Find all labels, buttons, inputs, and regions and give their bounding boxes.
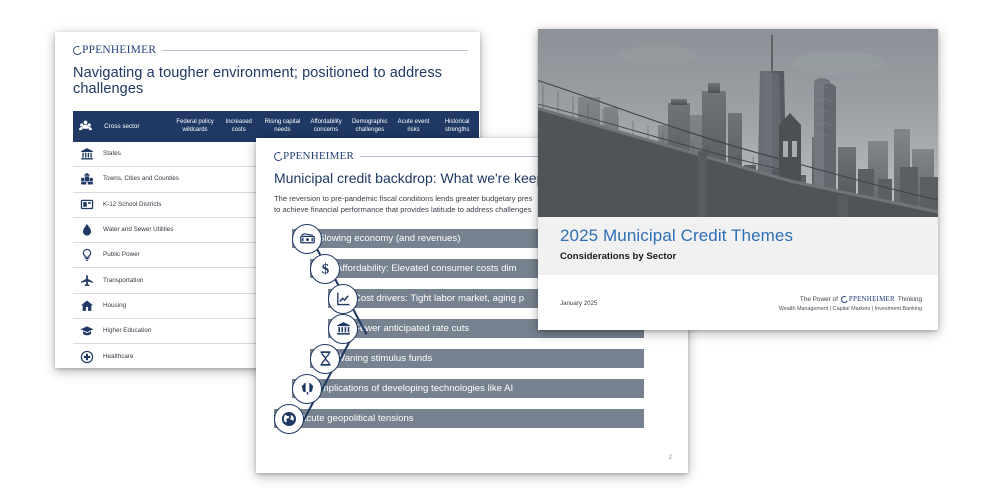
cover-subtitle: Considerations by Sector (560, 251, 938, 262)
brand-prefix: The Power of (800, 296, 838, 303)
town-buildings-icon (73, 172, 101, 186)
oppenheimer-wordmark: PPENHEIMER (283, 150, 354, 162)
brain-icon (292, 374, 322, 404)
page-number: 2 (669, 455, 672, 461)
title-band: 2025 Municipal Credit Themes Considerati… (538, 217, 938, 275)
row-label: Public Power (101, 251, 185, 259)
row-label: Housing (101, 302, 185, 310)
list-item-label: Acute geopolitical tensions (274, 409, 644, 428)
list-item[interactable]: Waning stimulus funds (310, 349, 644, 368)
list-item-label: Implications of developing technologies … (292, 379, 644, 398)
row-label: Healthcare (101, 353, 185, 361)
hourglass-icon (310, 344, 340, 374)
oppenheimer-wordmark: PPENHEIMER (82, 44, 156, 56)
slide-title-cover[interactable]: 2025 Municipal Credit Themes Considerati… (538, 29, 938, 330)
column-header-increased-costs: Increased costs (217, 111, 261, 142)
house-icon (73, 299, 101, 313)
medical-cross-icon (73, 350, 101, 364)
oppenheimer-o-icon (840, 295, 849, 304)
line-chart-icon (328, 284, 358, 314)
row-label: Towns, Cities and Counties (101, 175, 185, 183)
graduation-cap-icon (73, 324, 101, 338)
brand-lockup: The Power of PPENHEIMER Thinking Wealth … (779, 295, 922, 312)
cover-footer: January 2025 The Power of PPENHEIMER Thi… (538, 275, 938, 330)
cash-bills-icon (292, 224, 322, 254)
cover-date: January 2025 (560, 300, 598, 307)
logo-rule (162, 50, 468, 51)
globe-icon (274, 404, 304, 434)
column-header-federal-policy: Federal policy wildcards (173, 111, 217, 142)
people-group-icon (73, 111, 98, 142)
computer-monitor-icon (73, 198, 101, 212)
row-label: Higher Education (101, 327, 185, 335)
row-label: Water and Sewer Utilities (101, 226, 185, 234)
oppenheimer-logo: PPENHEIMER (73, 44, 468, 56)
row-label: K-12 School Districts (101, 201, 185, 209)
list-item[interactable]: Implications of developing technologies … (292, 379, 644, 398)
airplane-icon (73, 274, 101, 288)
bank-columns-icon (73, 147, 101, 161)
row-label: Transportation (101, 277, 185, 285)
slide-title: Navigating a tougher environment; positi… (73, 65, 468, 97)
brand-suffix: Thinking (898, 296, 922, 303)
dollar-sign-icon: $ (310, 254, 340, 284)
nyc-skyline-brooklyn-bridge-photo (538, 29, 938, 217)
water-drop-icon (73, 223, 101, 237)
lightbulb-icon (73, 248, 101, 262)
bank-columns-icon (328, 314, 358, 344)
list-item[interactable]: Acute geopolitical tensions (274, 409, 644, 428)
oppenheimer-wordmark: PPENHEIMER (849, 295, 895, 303)
cover-title: 2025 Municipal Credit Themes (560, 226, 938, 246)
row-label: States (101, 150, 185, 158)
slide-stack: PPENHEIMER Navigating a tougher environm… (0, 0, 994, 500)
list-item-label: Waning stimulus funds (310, 349, 644, 368)
svg-text:$: $ (321, 261, 329, 277)
brand-divisions: Wealth Management | Capital Markets | In… (779, 306, 922, 312)
column-header-cross-sector: Cross sector (98, 111, 173, 142)
